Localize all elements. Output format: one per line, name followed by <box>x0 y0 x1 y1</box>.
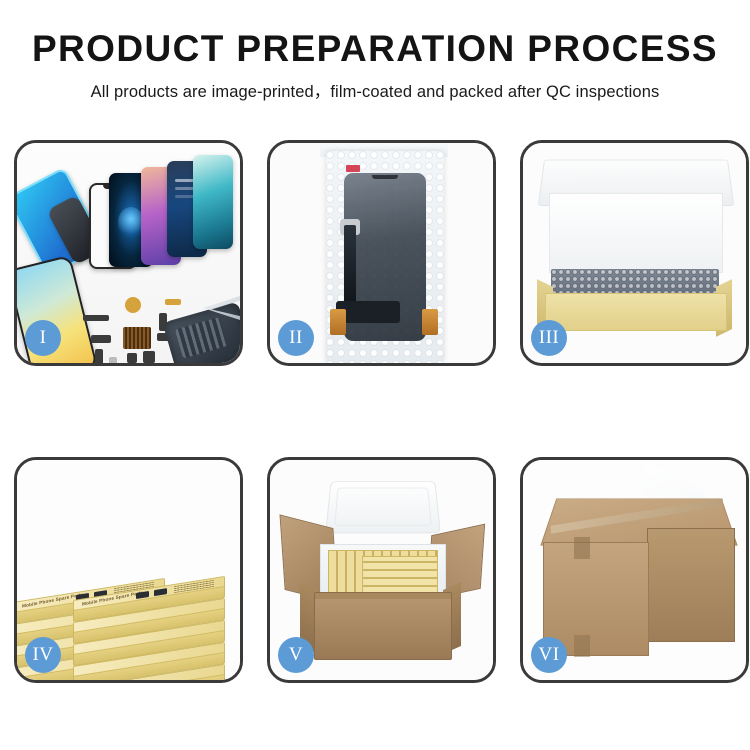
bubble-wrap-bag <box>326 151 444 363</box>
header: PRODUCT PREPARATION PROCESS All products… <box>0 0 750 102</box>
step-panel-1[interactable]: I <box>14 140 243 366</box>
red-label <box>346 165 360 172</box>
spare-parts-cluster <box>81 293 240 363</box>
step-panel-6[interactable]: VI <box>520 457 749 683</box>
step-badge-5: V <box>278 637 314 673</box>
carton-front-face <box>543 542 649 656</box>
part-speaker <box>125 297 141 313</box>
box-front-gold <box>545 293 727 331</box>
gold-boxes-stacked <box>362 556 438 594</box>
page-title: PRODUCT PREPARATION PROCESS <box>0 30 750 69</box>
step-badge-1: I <box>25 320 61 356</box>
part-bracket <box>91 335 111 343</box>
phone-screen-teal <box>193 155 233 249</box>
step-badge-3: III <box>531 320 567 356</box>
part-screw <box>109 357 117 363</box>
part-camera <box>127 353 137 363</box>
tape-left <box>330 309 346 335</box>
steps-grid: I II <box>14 140 736 683</box>
tape-right <box>422 309 438 335</box>
foam-lid <box>325 481 441 533</box>
flex-cable <box>344 225 356 303</box>
step-panel-4[interactable]: Mobile Phone Spare Parts Mobile Phone Sp… <box>14 457 243 683</box>
part-connector <box>95 349 103 363</box>
motherboard <box>163 301 240 363</box>
product-preparation-infographic: PRODUCT PREPARATION PROCESS All products… <box>0 0 750 750</box>
part-module <box>143 351 155 363</box>
foam-sheet <box>549 193 723 273</box>
step-panel-3[interactable]: III <box>520 140 749 366</box>
part-chip-array <box>123 327 151 349</box>
step-panel-2[interactable]: II <box>267 140 496 366</box>
step-panel-5[interactable]: V <box>267 457 496 683</box>
step-badge-2: II <box>278 320 314 356</box>
part-strip <box>83 315 109 321</box>
carton-side-face <box>647 528 735 642</box>
step-badge-6: VI <box>531 637 567 673</box>
carton-front <box>314 592 452 660</box>
part-flex-cable <box>165 299 181 305</box>
page-subtitle: All products are image-printed，film-coat… <box>0 78 750 102</box>
step-badge-4: IV <box>25 637 61 673</box>
